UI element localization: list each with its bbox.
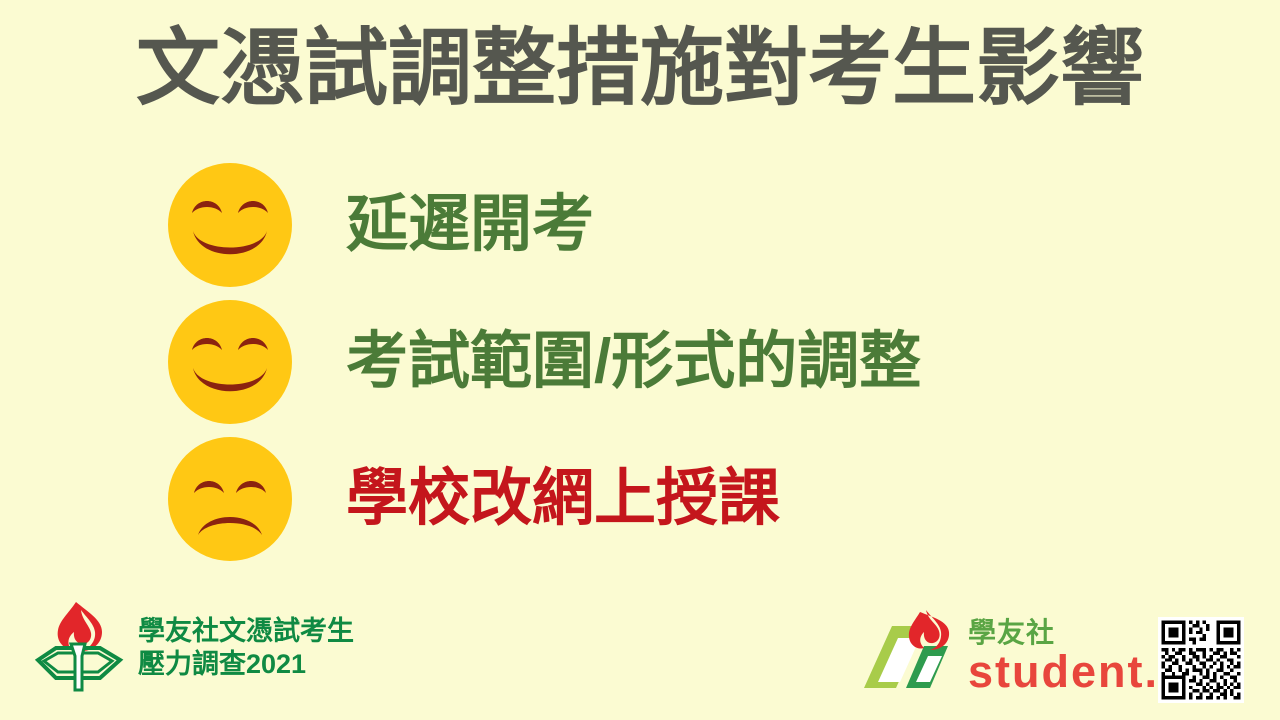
slide-canvas: 文憑試調整措施對考生影響 延遲開考 bbox=[0, 0, 1280, 720]
survey-branding: 學友社文憑試考生 壓力調查2021 bbox=[30, 598, 354, 698]
book-flame-logo-icon bbox=[862, 608, 966, 696]
survey-caption: 學友社文憑試考生 壓力調查2021 bbox=[138, 615, 354, 681]
list-item-label: 考試範圍/形式的調整 bbox=[346, 331, 921, 393]
list-item-label: 延遲開考 bbox=[346, 194, 594, 256]
list-item: 延遲開考 bbox=[166, 156, 1216, 293]
frowning-face-icon bbox=[166, 435, 302, 563]
survey-caption-line2: 壓力調查2021 bbox=[138, 649, 306, 679]
list-item: 考試範圍/形式的調整 bbox=[166, 293, 1216, 430]
torch-book-logo-icon bbox=[30, 598, 126, 698]
survey-caption-line1: 學友社文憑試考生 bbox=[138, 616, 354, 646]
list-item-label: 學校改網上授課 bbox=[346, 468, 780, 530]
bullet-list: 延遲開考 考試範圍/形式的調整 bbox=[166, 156, 1216, 567]
page-title: 文憑試調整措施對考生影響 bbox=[0, 26, 1280, 110]
smiling-face-icon bbox=[166, 161, 302, 289]
list-item: 學校改網上授課 bbox=[166, 430, 1216, 567]
smiling-face-icon bbox=[166, 298, 302, 426]
